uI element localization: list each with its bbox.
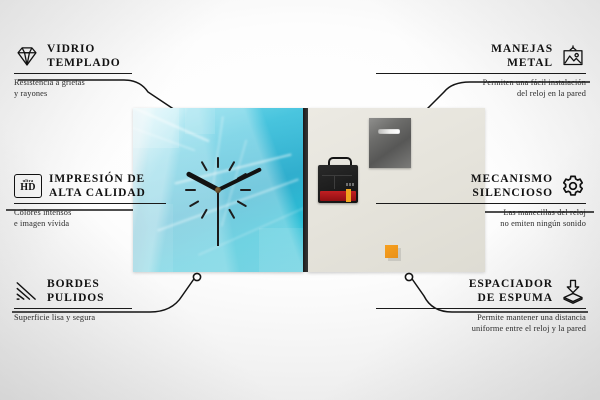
callout-header: MECANISMO SILENCIOSO <box>376 172 586 200</box>
metal-hanger-plate <box>369 118 411 168</box>
battery-compartment <box>320 191 356 201</box>
callout-title-line2: PULIDOS <box>47 291 104 305</box>
callout-title-line2: ALTA CALIDAD <box>49 186 146 200</box>
callout-mecanismo-silencioso: MECANISMO SILENCIOSO Las manecillas del … <box>376 172 586 230</box>
callout-title-line1: ESPACIADOR <box>469 277 553 291</box>
badge-large-label: HD <box>20 183 36 193</box>
ultra-hd-badge-icon: ultra HD <box>14 174 42 198</box>
callout-title: ESPACIADOR DE ESPUMA <box>469 277 553 305</box>
callout-title-line1: IMPRESIÓN DE <box>49 172 146 186</box>
callout-header: MANEJAS METAL <box>376 42 586 70</box>
mechanism-body <box>318 165 358 203</box>
callout-title-line1: VIDRIO <box>47 42 121 56</box>
hanging-picture-icon <box>560 43 586 69</box>
infographic-canvas: VIDRIO TEMPLADO Resistencia a grietas y … <box>0 0 600 400</box>
foam-spacer <box>385 245 398 258</box>
diamond-icon <box>14 43 40 69</box>
mechanism-seam-vertical <box>334 175 335 189</box>
callout-desc-line1: Permiten una fácil instalación <box>376 77 586 88</box>
callout-description: Las manecillas del reloj no emiten ningú… <box>376 207 586 229</box>
quartz-mechanism <box>318 163 358 203</box>
callout-title-line1: BORDES <box>47 277 104 291</box>
callout-title-line2: SILENCIOSO <box>471 186 553 200</box>
gear-icon <box>560 173 586 199</box>
foam-spacer-icon <box>560 278 586 304</box>
mechanism-seam <box>322 175 352 176</box>
callout-rule <box>376 73 586 74</box>
callout-desc-line1: Las manecillas del reloj <box>376 207 586 218</box>
callout-description: Superficie lisa y segura <box>14 312 224 323</box>
callout-title-line2: TEMPLADO <box>47 56 121 70</box>
callout-desc-line2: e imagen vívida <box>14 218 224 229</box>
hanger-slot <box>378 129 400 134</box>
callout-title: VIDRIO TEMPLADO <box>47 42 121 70</box>
callout-description: Resistencia a grietas y rayones <box>14 77 224 99</box>
callout-desc-line1: Colores intensos <box>14 207 224 218</box>
callout-desc-line1: Resistencia a grietas <box>14 77 224 88</box>
callout-desc-line1: Superficie lisa y segura <box>14 312 224 323</box>
callout-title: MANEJAS METAL <box>491 42 553 70</box>
callout-title-line2: METAL <box>491 56 553 70</box>
callout-header: ultra HD IMPRESIÓN DE ALTA CALIDAD <box>14 172 224 200</box>
callout-description: Colores intensos e imagen vívida <box>14 207 224 229</box>
callout-header: VIDRIO TEMPLADO <box>14 42 224 70</box>
callout-header: BORDES PULIDOS <box>14 277 224 305</box>
callout-rule <box>14 203 166 204</box>
callout-description: Permiten una fácil instalación del reloj… <box>376 77 586 99</box>
callout-title-line2: DE ESPUMA <box>469 291 553 305</box>
callout-impresion-alta-calidad: ultra HD IMPRESIÓN DE ALTA CALIDAD Color… <box>14 172 224 230</box>
polished-edges-icon <box>14 278 40 304</box>
callout-rule <box>376 308 586 309</box>
callout-vidrio-templado: VIDRIO TEMPLADO Resistencia a grietas y … <box>14 42 224 100</box>
callout-header: ESPACIADOR DE ESPUMA <box>376 277 586 305</box>
callout-bordes-pulidos: BORDES PULIDOS Superficie lisa y segura <box>14 277 224 323</box>
callout-description: Permite mantener una distancia uniforme … <box>376 312 586 334</box>
callout-desc-line2: uniforme entre el reloj y la pared <box>376 323 586 334</box>
callout-title-line1: MANEJAS <box>491 42 553 56</box>
callout-desc-line2: y rayones <box>14 88 224 99</box>
callout-manejas-metal: MANEJAS METAL Permiten una fácil instala… <box>376 42 586 100</box>
callout-title: MECANISMO SILENCIOSO <box>471 172 553 200</box>
callout-title: IMPRESIÓN DE ALTA CALIDAD <box>49 172 146 200</box>
callout-desc-line2: no emiten ningún sonido <box>376 218 586 229</box>
callout-rule <box>376 203 586 204</box>
callout-title: BORDES PULIDOS <box>47 277 104 305</box>
callout-title-line1: MECANISMO <box>471 172 553 186</box>
callout-desc-line1: Permite mantener una distancia <box>376 312 586 323</box>
callout-espaciador-espuma: ESPACIADOR DE ESPUMA Permite mantener un… <box>376 277 586 335</box>
callout-desc-line2: del reloj en la pared <box>376 88 586 99</box>
callout-rule <box>14 73 132 74</box>
callout-rule <box>14 308 132 309</box>
mechanism-label <box>346 183 355 186</box>
